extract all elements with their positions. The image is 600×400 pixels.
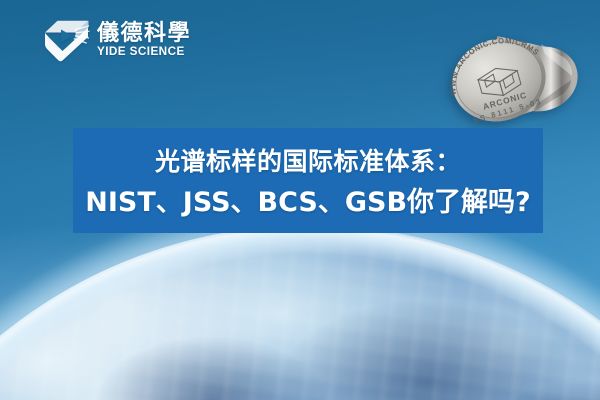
title-line-1: 光谱标样的国际标准体系： [155,142,461,178]
globe-atmosphere-limb [0,225,600,400]
brand-logo[interactable]: 儀德科學 YIDE SCIENCE [44,20,191,62]
title-line-2: NIST、JSS、BCS、GSB你了解吗? [85,180,530,219]
brand-name-en: YIDE SCIENCE [97,47,193,59]
brand-name-cn: 儀德科學 [97,23,191,45]
metal-reference-standard-disc: WWW.ARCONIC.COM/CRMS ARCONIC SS 8111 5-0… [437,24,589,136]
poster-canvas: 儀德科學 YIDE SCIENCE [0,0,600,400]
yide-arrow-check-logo-icon [44,20,90,62]
earth-globe-image [0,225,600,400]
brand-logo-text: 儀德科學 YIDE SCIENCE [97,23,191,59]
title-banner: 光谱标样的国际标准体系： NIST、JSS、BCS、GSB你了解吗? [73,128,543,233]
